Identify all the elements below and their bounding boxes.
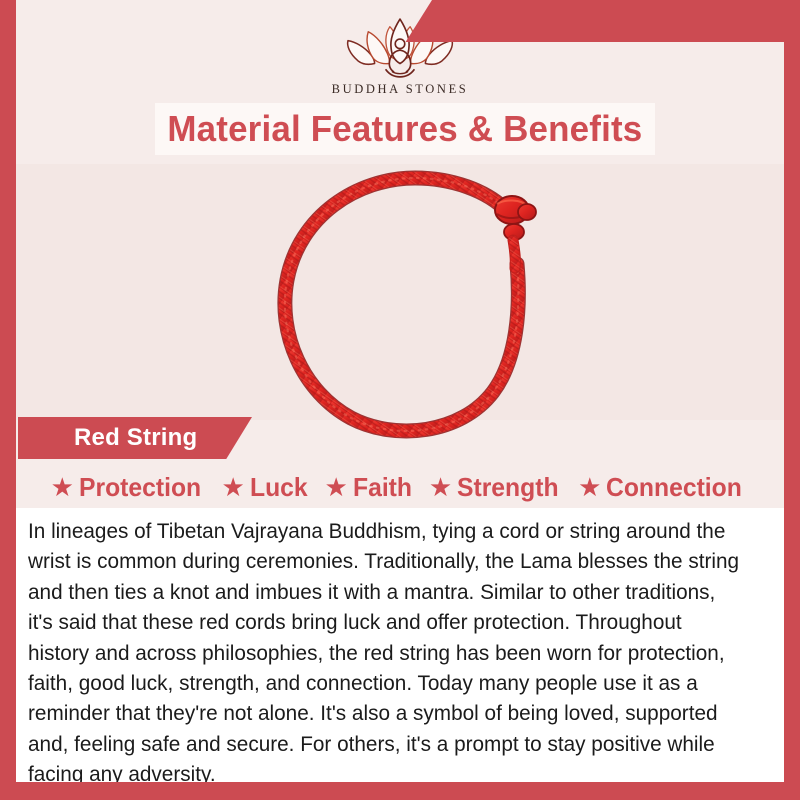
feature-label-faith: Faith [353,472,412,503]
star-icon: ★ [221,474,244,500]
description-panel: In lineages of Tibetan Vajrayana Buddhis… [16,508,784,782]
star-icon: ★ [324,474,347,500]
product-photo-red-string-bracelet [265,168,555,440]
frame-accent-left [0,0,16,800]
feature-label-connection: Connection [606,472,742,503]
infographic-canvas: BUDDHA STONES Material Features & Benefi… [0,0,800,800]
frame-accent-right [784,0,800,800]
feature-item-luck: ★ Luck [216,472,315,503]
feature-item-faith: ★ Faith [319,472,419,503]
feature-label-protection: Protection [79,472,201,503]
feature-item-protection: ★ Protection [46,472,213,503]
description-text: In lineages of Tibetan Vajrayana Buddhis… [28,516,744,790]
feature-item-connection: ★ Connection [573,472,754,503]
product-name-label: Red String [74,424,197,452]
frame-accent-bottom [0,782,800,800]
adjustable-knot-icon [495,196,536,268]
feature-label-strength: Strength [457,472,559,503]
brand-wordmark: BUDDHA STONES [0,82,800,97]
star-icon: ★ [578,474,601,500]
feature-label-luck: Luck [250,472,308,503]
page-title-banner: Material Features & Benefits [155,103,655,155]
feature-item-strength: ★ Strength [424,472,569,503]
star-icon: ★ [429,474,452,500]
feature-list: ★ Protection ★ Luck ★ Faith ★ Strength ★… [16,465,784,509]
star-icon: ★ [51,474,74,500]
page-title: Material Features & Benefits [167,108,642,150]
product-name-ribbon: Red String [18,417,252,459]
